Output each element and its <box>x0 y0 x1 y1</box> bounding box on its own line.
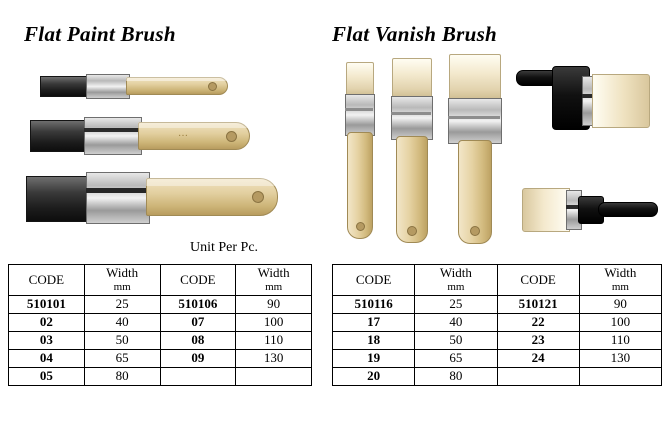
column-header-code-b: CODE <box>160 265 236 296</box>
column-header-width-a: Width mm <box>415 265 497 296</box>
page-title-left: Flat Paint Brush <box>24 22 176 47</box>
cell-width: 130 <box>236 350 312 368</box>
unit-per-piece-note: Unit Per Pc. <box>190 240 258 256</box>
cell-width: 110 <box>579 332 661 350</box>
flat-paint-brush-small-image <box>40 68 260 104</box>
table-row: 05 80 <box>9 368 312 386</box>
column-header-code-a: CODE <box>333 265 415 296</box>
flat-paint-brush-medium-image: … <box>30 112 270 162</box>
column-header-width-b: Width mm <box>579 265 661 296</box>
cell-code: 05 <box>9 368 85 386</box>
cell-width <box>579 368 661 386</box>
table-row: 20 80 <box>333 368 662 386</box>
cell-code: 18 <box>333 332 415 350</box>
cell-code: 510116 <box>333 296 415 314</box>
table-row: 510116 25 510121 90 <box>333 296 662 314</box>
cell-width: 65 <box>84 350 160 368</box>
cell-code: 04 <box>9 350 85 368</box>
cell-width: 90 <box>579 296 661 314</box>
cell-code: 510121 <box>497 296 579 314</box>
cell-width: 40 <box>415 314 497 332</box>
cell-code <box>497 368 579 386</box>
cell-code: 19 <box>333 350 415 368</box>
page-title-right: Flat Vanish Brush <box>332 22 497 47</box>
cell-width: 50 <box>84 332 160 350</box>
cell-code: 510101 <box>9 296 85 314</box>
flat-paint-brush-panel: Flat Paint Brush … Unit Per Pc. <box>0 0 320 429</box>
table-row: 17 40 22 100 <box>333 314 662 332</box>
cell-width: 80 <box>84 368 160 386</box>
cell-code: 17 <box>333 314 415 332</box>
flat-vanish-brush-narrow-image <box>340 62 380 242</box>
cell-width: 130 <box>579 350 661 368</box>
cell-width: 65 <box>415 350 497 368</box>
cell-code: 09 <box>160 350 236 368</box>
flat-vanish-brush-wide-image <box>446 54 508 246</box>
cell-code: 08 <box>160 332 236 350</box>
cell-code: 23 <box>497 332 579 350</box>
left-code-table: CODE Width mm CODE Width mm 51010 <box>8 264 312 386</box>
flat-vanish-brush-panel: Flat Vanish Brush <box>326 0 669 429</box>
cell-code <box>160 368 236 386</box>
column-header-code-a: CODE <box>9 265 85 296</box>
column-header-width-a: Width mm <box>84 265 160 296</box>
table-header-row: CODE Width mm CODE Width mm <box>333 265 662 296</box>
cell-code: 02 <box>9 314 85 332</box>
cell-width: 90 <box>236 296 312 314</box>
cell-width: 50 <box>415 332 497 350</box>
cell-width: 100 <box>236 314 312 332</box>
table-row: 04 65 09 130 <box>9 350 312 368</box>
flat-vanish-brush-black-small-image <box>522 178 662 248</box>
column-header-width-b: Width mm <box>236 265 312 296</box>
right-code-table: CODE Width mm CODE Width mm 51011 <box>332 264 662 386</box>
table-row: 19 65 24 130 <box>333 350 662 368</box>
cell-code: 24 <box>497 350 579 368</box>
cell-code: 22 <box>497 314 579 332</box>
flat-vanish-brush-black-wide-image <box>516 62 656 152</box>
cell-code: 20 <box>333 368 415 386</box>
table-row: 02 40 07 100 <box>9 314 312 332</box>
cell-width: 80 <box>415 368 497 386</box>
cell-code: 03 <box>9 332 85 350</box>
cell-code: 07 <box>160 314 236 332</box>
column-header-code-b: CODE <box>497 265 579 296</box>
cell-width: 25 <box>84 296 160 314</box>
cell-width: 40 <box>84 314 160 332</box>
table-row: 510101 25 510106 90 <box>9 296 312 314</box>
flat-paint-brush-large-image <box>26 170 286 234</box>
table-header-row: CODE Width mm CODE Width mm <box>9 265 312 296</box>
cell-width: 100 <box>579 314 661 332</box>
table-row: 03 50 08 110 <box>9 332 312 350</box>
cell-width <box>236 368 312 386</box>
flat-vanish-brush-medium-image <box>388 58 440 244</box>
cell-width: 110 <box>236 332 312 350</box>
table-row: 18 50 23 110 <box>333 332 662 350</box>
cell-width: 25 <box>415 296 497 314</box>
cell-code: 510106 <box>160 296 236 314</box>
